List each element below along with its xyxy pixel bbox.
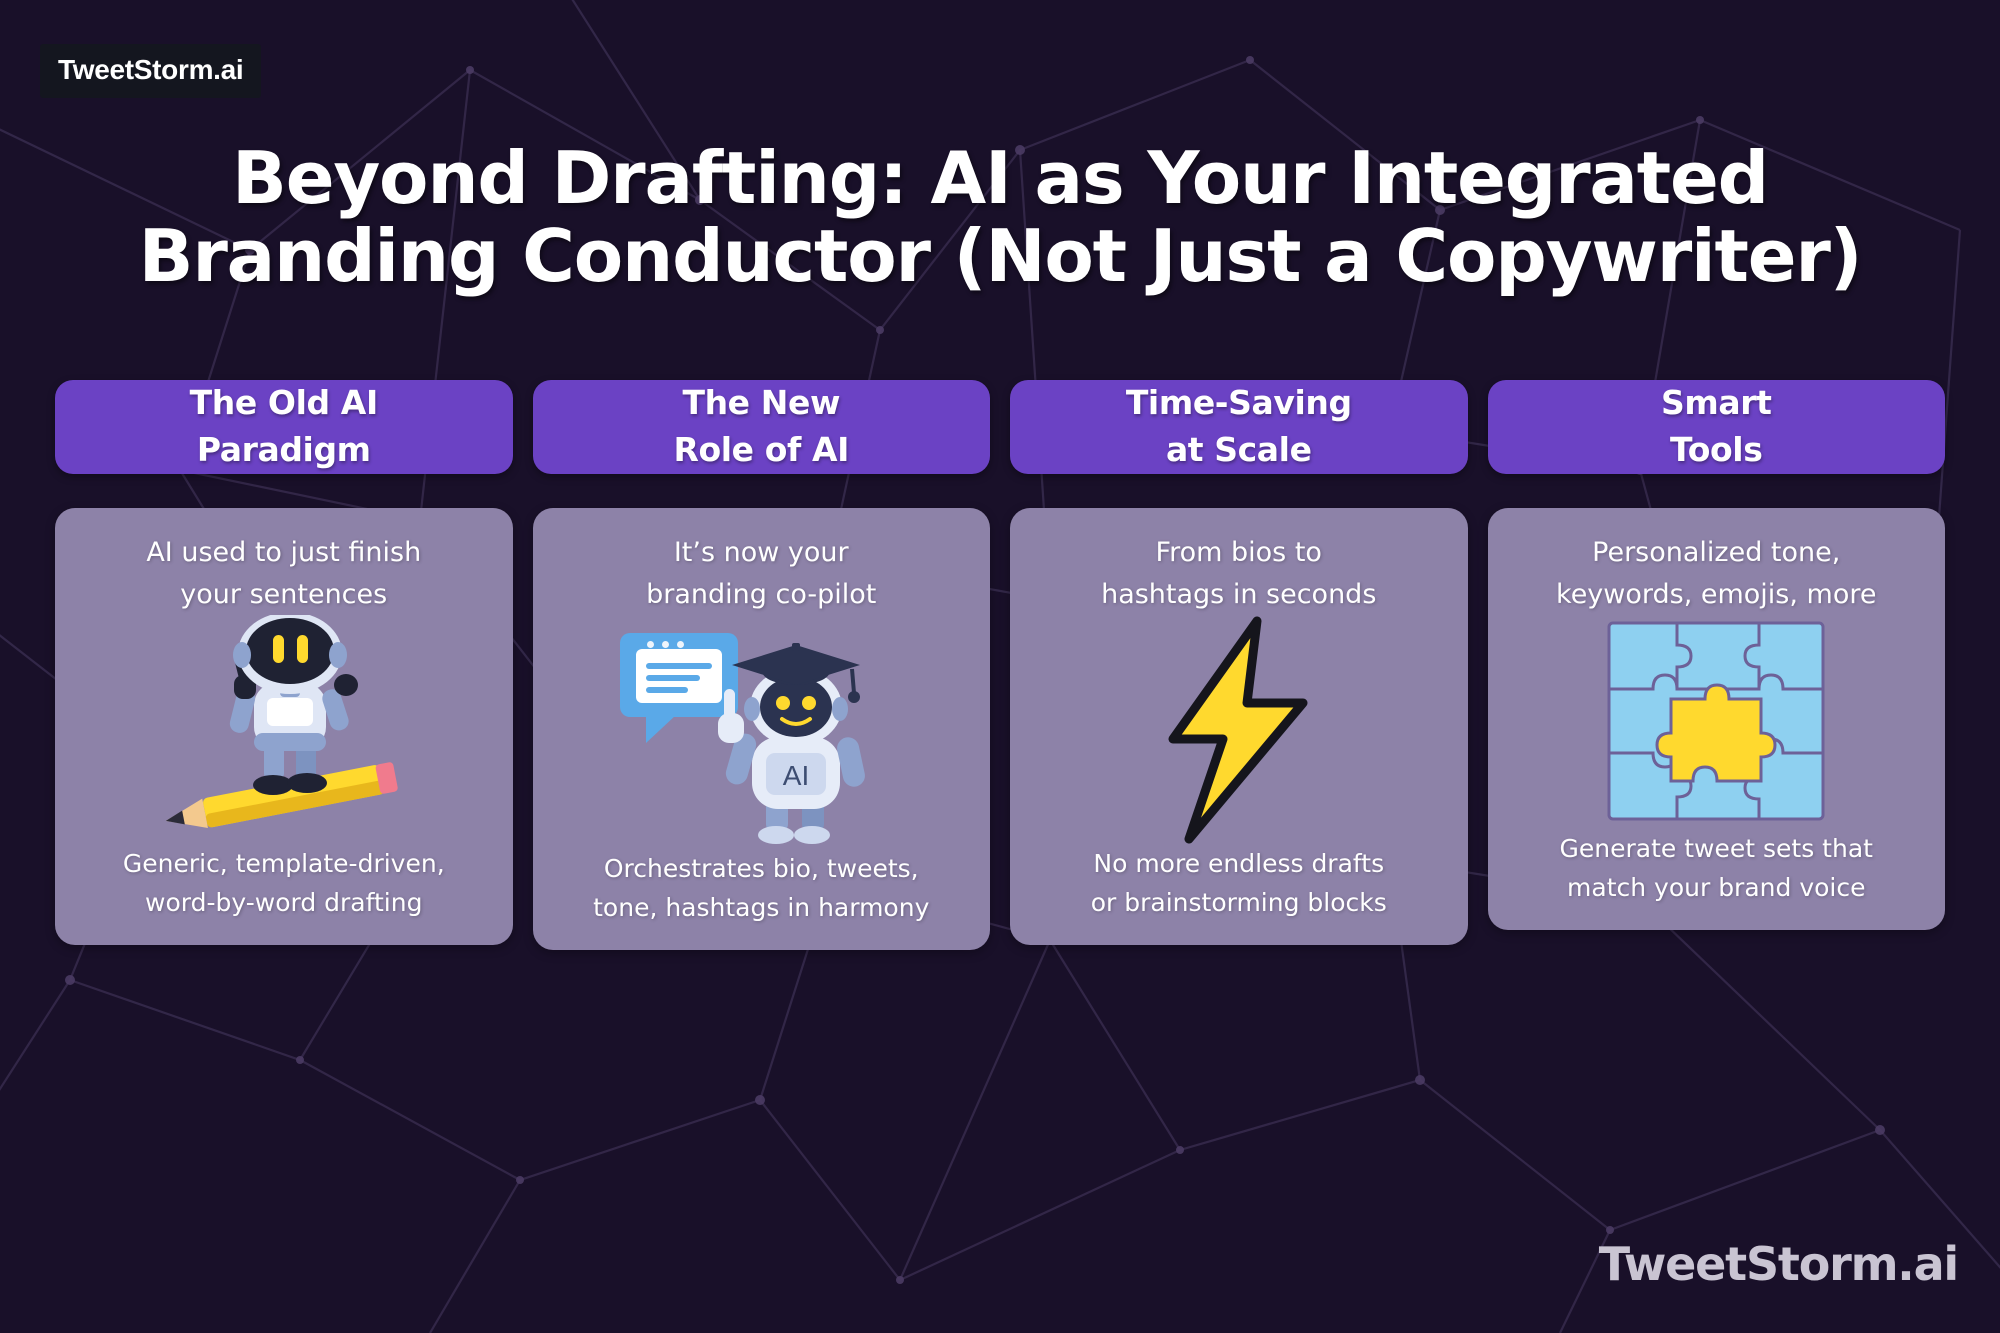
card-4-top-line-2: keywords, emojis, more bbox=[1556, 574, 1876, 616]
robot-badge-text: AI bbox=[783, 760, 809, 791]
card-1-bottom-line-1: Generic, template-driven, bbox=[123, 845, 445, 884]
card-header-2-line-2: Role of AI bbox=[673, 427, 849, 474]
card-header-4-line-2: Tools bbox=[1670, 427, 1762, 474]
card-header-4[interactable]: Smart Tools bbox=[1488, 380, 1946, 474]
card-2-bottom-line-2: tone, hashtags in harmony bbox=[593, 889, 929, 928]
card-1-illustration bbox=[67, 615, 501, 845]
card-header-2[interactable]: The New Role of AI bbox=[533, 380, 991, 474]
card-header-1-line-2: Paradigm bbox=[197, 427, 371, 474]
puzzle-piece-highlight bbox=[1657, 685, 1775, 781]
card-3-bottom-line-2: or brainstorming blocks bbox=[1091, 884, 1387, 923]
column-smart-tools: Smart Tools Personalized tone, keywords,… bbox=[1488, 380, 1946, 890]
card-1-top-line-1: AI used to just finish bbox=[146, 532, 421, 574]
card-2-bottom-line-1: Orchestrates bio, tweets, bbox=[604, 850, 919, 889]
card-3-top-line-1: From bios to bbox=[1156, 532, 1322, 574]
puzzle-piece-icon bbox=[1601, 615, 1831, 830]
card-2-top-line-2: branding co-pilot bbox=[646, 574, 876, 616]
robot-graduate-chat-icon: AI bbox=[606, 615, 916, 850]
brand-logo-text: TweetStorm.ai bbox=[58, 54, 243, 85]
page-title-line-2: Branding Conductor (Not Just a Copywrite… bbox=[0, 218, 2000, 296]
card-header-2-line-1: The New bbox=[682, 380, 840, 427]
card-3-top-line-2: hashtags in seconds bbox=[1101, 574, 1376, 616]
card-body-1[interactable]: AI used to just finish your sentences bbox=[55, 508, 513, 945]
card-body-3[interactable]: From bios to hashtags in seconds No more… bbox=[1010, 508, 1468, 945]
card-header-3-line-1: Time-Saving bbox=[1126, 380, 1352, 427]
brand-logo: TweetStorm.ai bbox=[40, 44, 261, 98]
card-header-1-line-1: The Old AI bbox=[190, 380, 378, 427]
card-body-2[interactable]: It’s now your branding co-pilot bbox=[533, 508, 991, 950]
card-3-bottom-line-1: No more endless drafts bbox=[1093, 845, 1384, 884]
card-1-top-line-2: your sentences bbox=[180, 574, 387, 616]
page-title: Beyond Drafting: AI as Your Integrated B… bbox=[0, 140, 2000, 296]
comparison-grid: The Old AI Paradigm AI used to just fini… bbox=[55, 380, 1945, 890]
column-old-ai-paradigm: The Old AI Paradigm AI used to just fini… bbox=[55, 380, 513, 890]
card-1-bottom-line-2: word-by-word drafting bbox=[145, 884, 422, 923]
card-header-4-line-1: Smart bbox=[1661, 380, 1771, 427]
card-4-top-line-1: Personalized tone, bbox=[1592, 532, 1840, 574]
card-4-illustration bbox=[1500, 615, 1934, 830]
page-title-line-1: Beyond Drafting: AI as Your Integrated bbox=[0, 140, 2000, 218]
card-body-4[interactable]: Personalized tone, keywords, emojis, mor… bbox=[1488, 508, 1946, 930]
card-2-illustration: AI bbox=[545, 615, 979, 850]
card-3-illustration bbox=[1022, 615, 1456, 845]
brand-watermark: TweetStorm.ai bbox=[1599, 1237, 1958, 1291]
card-header-1[interactable]: The Old AI Paradigm bbox=[55, 380, 513, 474]
card-4-bottom-line-2: match your brand voice bbox=[1567, 869, 1865, 908]
lightning-bolt-icon bbox=[1139, 615, 1339, 845]
card-header-3[interactable]: Time-Saving at Scale bbox=[1010, 380, 1468, 474]
column-time-saving-at-scale: Time-Saving at Scale From bios to hashta… bbox=[1010, 380, 1468, 890]
card-4-bottom-line-1: Generate tweet sets that bbox=[1560, 830, 1873, 869]
card-header-3-line-2: at Scale bbox=[1166, 427, 1312, 474]
robot-on-pencil-icon bbox=[134, 615, 434, 845]
card-2-top-line-1: It’s now your bbox=[674, 532, 849, 574]
column-new-role-of-ai: The New Role of AI It’s now your brandin… bbox=[533, 380, 991, 890]
